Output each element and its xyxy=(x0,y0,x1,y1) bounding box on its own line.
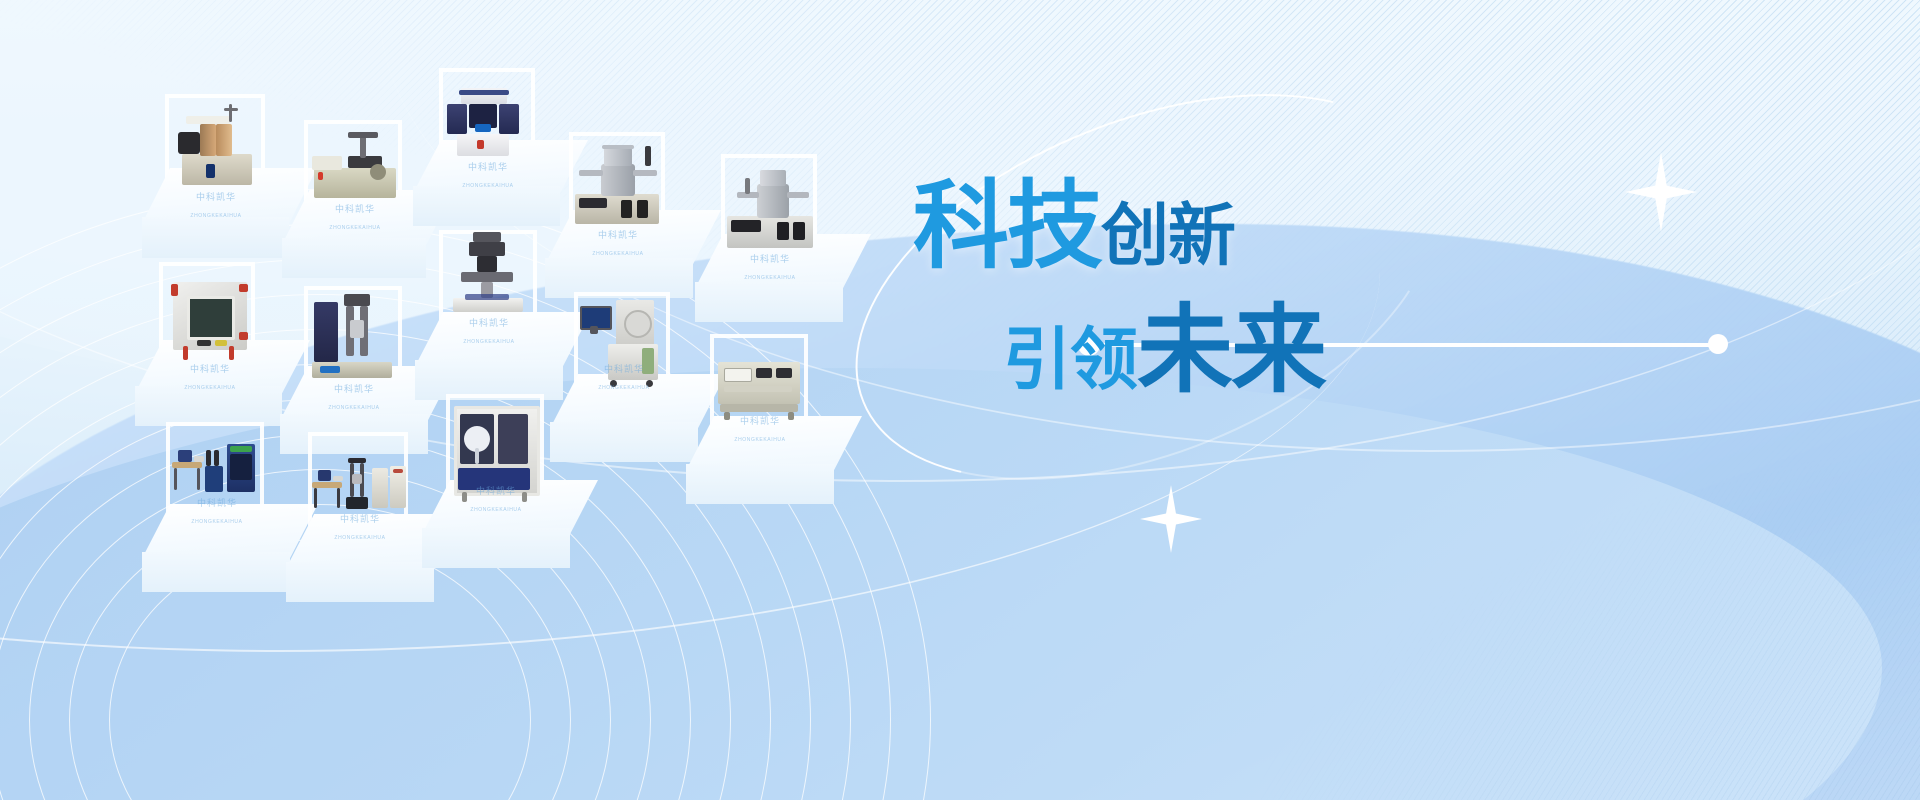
product-image-p7: 中科凯华ZHONGKEKAIHUA xyxy=(308,290,400,382)
product-image-p4: 中科凯华ZHONGKEKAIHUA xyxy=(571,136,665,226)
product-image-p13: 中科凯华ZHONGKEKAIHUA xyxy=(452,404,540,504)
product-tile-p13[interactable]: 中科凯华ZHONGKEKAIHUA xyxy=(420,390,620,616)
product-image-p3: 中科凯华ZHONGKEKAIHUA xyxy=(443,88,533,174)
product-image-p12: 中科凯华ZHONGKEKAIHUA xyxy=(312,456,408,528)
product-image-p8: 中科凯华ZHONGKEKAIHUA xyxy=(443,232,535,328)
product-image-p5: 中科凯华ZHONGKEKAIHUA xyxy=(723,160,817,250)
headline-line-2: 引领未来 xyxy=(1003,302,1465,398)
headline-line-1: 科技创新 xyxy=(913,178,1465,274)
product-image-p1: 中科凯华ZHONGKEKAIHUA xyxy=(168,100,264,188)
banner-stage: 中科凯华ZHONGKEKAIHUA 中科凯华ZHONGKEKAIHUA xyxy=(0,0,1920,800)
headline-line1-secondary: 创新 xyxy=(1101,197,1235,276)
watermark-cn: 中科凯华 xyxy=(196,192,236,202)
product-tile-p10[interactable]: 中科凯华ZHONGKEKAIHUA xyxy=(684,330,884,550)
product-image-p6: 中科凯华ZHONGKEKAIHUA xyxy=(169,278,251,358)
headline-line2-secondary: 未来 xyxy=(1137,294,1325,406)
headline-block: 科技创新 引领未来 xyxy=(905,178,1465,398)
headline-line1-primary: 科技 xyxy=(913,170,1101,282)
product-image-p9: 中科凯华ZHONGKEKAIHUA xyxy=(578,300,670,392)
headline-line2-primary: 引领 xyxy=(1003,321,1137,400)
product-image-p11: 中科凯华ZHONGKEKAIHUA xyxy=(172,442,262,514)
connector-dot-right xyxy=(1708,334,1728,354)
product-image-p10: 中科凯华ZHONGKEKAIHUA xyxy=(714,354,806,426)
product-image-p2: 中科凯华ZHONGKEKAIHUA xyxy=(308,126,402,214)
watermark-en: ZHONGKEKAIHUA xyxy=(190,213,241,219)
